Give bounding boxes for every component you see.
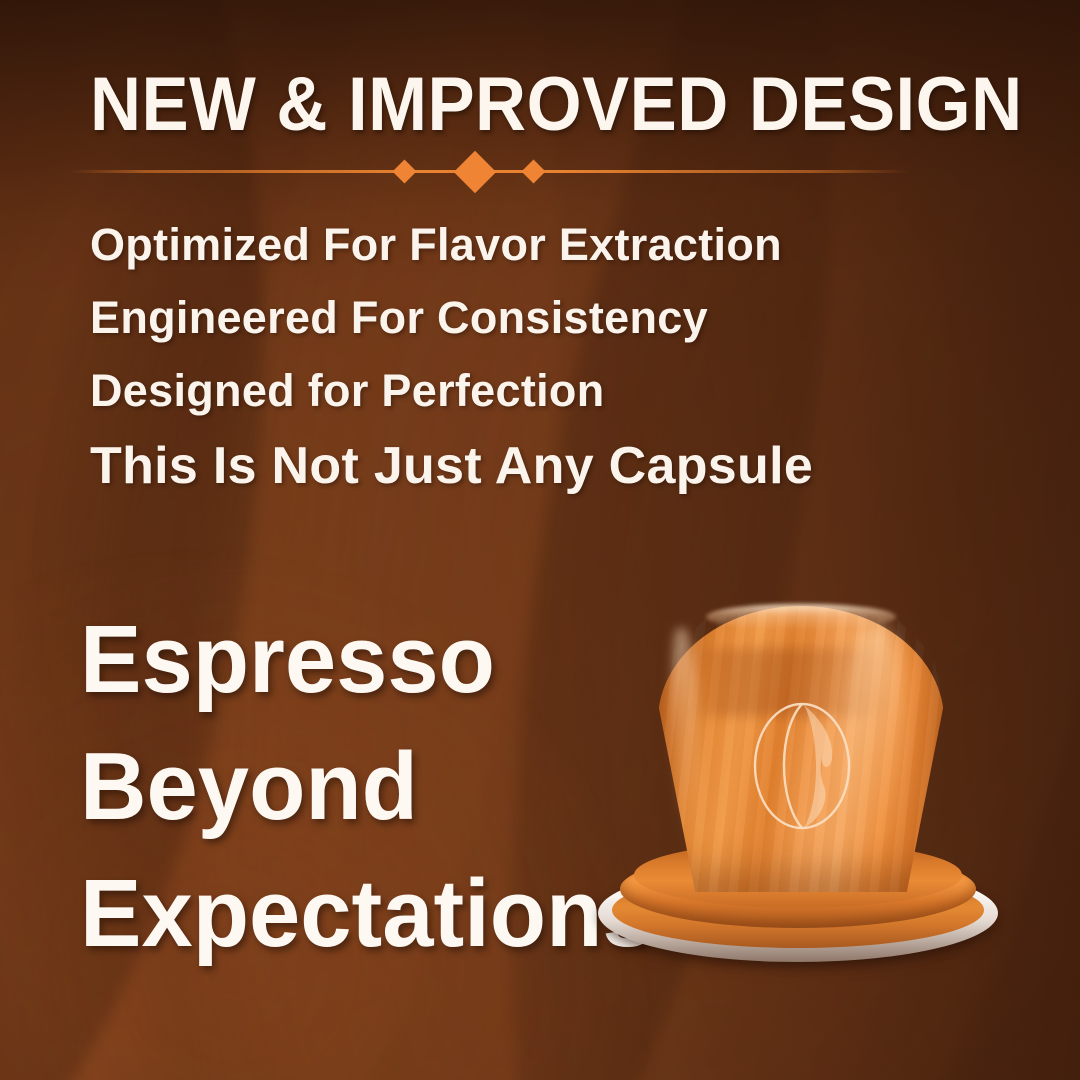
feature-item-4: This Is Not Just Any Capsule <box>90 427 970 505</box>
product-capsule-image <box>596 592 1000 970</box>
capsule-dome-rim-highlight <box>706 604 896 630</box>
promo-poster: NEW & IMPROVED DESIGN Optimized For Flav… <box>0 0 1080 1080</box>
diamond-icon-right <box>521 159 545 183</box>
feature-list: Optimized For Flavor Extraction Engineer… <box>90 208 970 505</box>
headline-line-2: Beyond <box>80 723 618 850</box>
feature-item-3: Designed for Perfection <box>90 354 970 427</box>
diamond-icon-left <box>392 159 416 183</box>
page-title: NEW & IMPROVED DESIGN <box>90 68 927 142</box>
headline-line-3: Expectations <box>80 850 618 977</box>
ornamental-divider <box>70 160 910 184</box>
headline-statement: Espresso Beyond Expectations <box>80 596 640 977</box>
headline-line-1: Espresso <box>80 596 618 723</box>
feature-item-2: Engineered For Consistency <box>90 281 970 354</box>
feature-item-1: Optimized For Flavor Extraction <box>90 208 970 281</box>
coffee-bean-flame-logo-icon <box>748 700 856 832</box>
